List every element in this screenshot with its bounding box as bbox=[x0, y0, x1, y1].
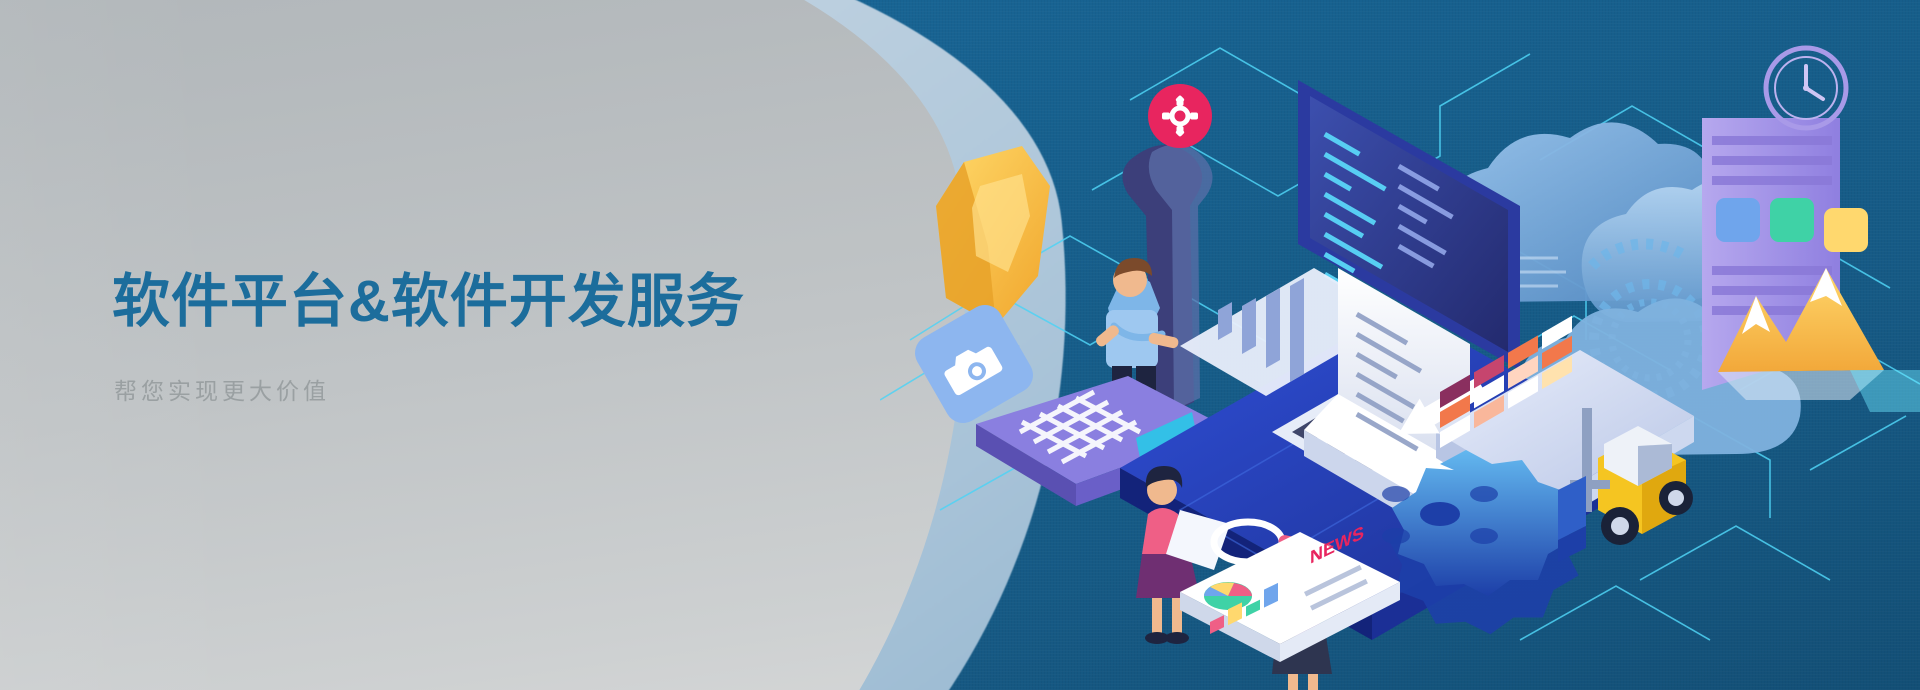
camera-tile-icon bbox=[908, 298, 1039, 429]
banner-copy: 软件平台&软件开发服务 帮您实现更大价值 bbox=[112, 268, 872, 406]
hero-illustration: NEWS bbox=[880, 40, 1920, 690]
tile-green bbox=[1770, 198, 1814, 242]
wrench-icon bbox=[1122, 84, 1212, 422]
tile-blue bbox=[1716, 198, 1760, 242]
clock-icon bbox=[1766, 48, 1846, 128]
gear-badge-icon bbox=[1148, 84, 1212, 148]
page-subtitle: 帮您实现更大价值 bbox=[114, 372, 872, 406]
pie-chart-icon bbox=[1204, 582, 1252, 610]
hero-banner: 软件平台&软件开发服务 帮您实现更大价值 bbox=[0, 0, 1920, 690]
page-title: 软件平台&软件开发服务 bbox=[112, 268, 872, 336]
shield-icon bbox=[936, 146, 1050, 326]
tile-yellow bbox=[1824, 208, 1868, 252]
